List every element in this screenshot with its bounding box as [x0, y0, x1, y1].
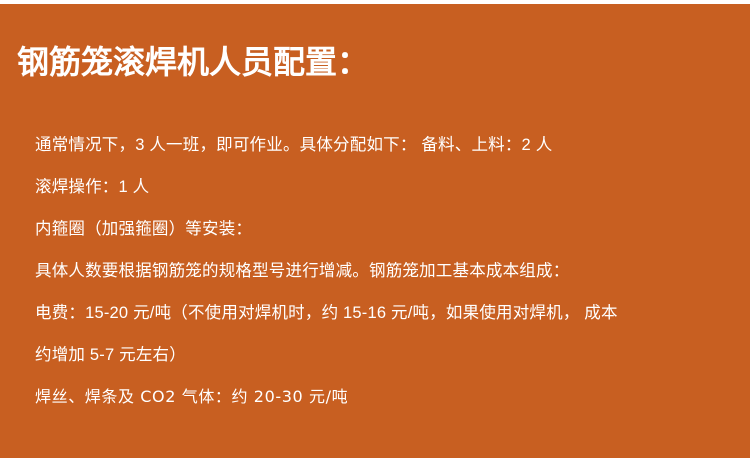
body-line-consumables-cost: 焊丝、焊条及 CO2 气体：约 20-30 元/吨	[35, 376, 735, 418]
body-line-roll-weld-operation: 滚焊操作：1 人	[35, 166, 735, 208]
body-line-electricity-cost-continued: 约增加 5-7 元左右）	[35, 334, 735, 376]
body-line-headcount-note: 具体人数要根据钢筋笼的规格型号进行增减。钢筋笼加工基本成本组成：	[35, 250, 735, 292]
body-line-staffing-overview: 通常情况下，3 人一班，即可作业。具体分配如下： 备料、上料：2 人	[35, 124, 735, 166]
body-line-electricity-cost: 电费：15-20 元/吨（不使用对焊机时，约 15-16 元/吨，如果使用对焊机…	[35, 292, 735, 334]
body-line-inner-hoop-install: 内箍圈（加强箍圈）等安装：	[35, 208, 735, 250]
banner-body-text: 通常情况下，3 人一班，即可作业。具体分配如下： 备料、上料：2 人 滚焊操作：…	[35, 124, 735, 418]
info-banner: 钢筋笼滚焊机人员配置： 通常情况下，3 人一班，即可作业。具体分配如下： 备料、…	[0, 4, 750, 458]
page-title: 钢筋笼滚焊机人员配置：	[17, 42, 369, 82]
